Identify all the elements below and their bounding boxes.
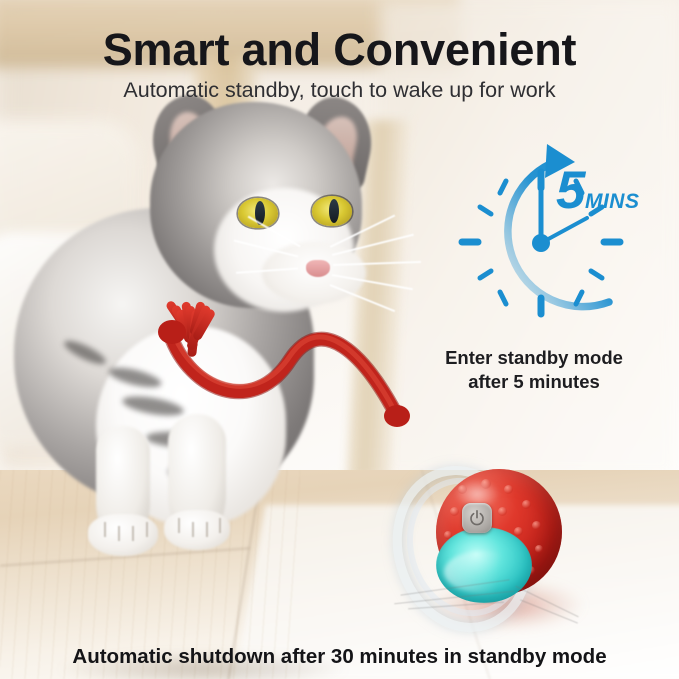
cat-paw-toe-line — [192, 522, 194, 537]
clock-caption-line-1: Enter standby mode — [392, 346, 676, 370]
ball-texture-bump — [498, 507, 507, 516]
ball-texture-bump — [450, 507, 459, 516]
cat-paw-toe-line — [132, 526, 134, 541]
clock-caption: Enter standby mode after 5 minutes — [392, 346, 676, 394]
standby-duration-value: 5 — [556, 161, 585, 220]
ball-texture-bump — [532, 521, 541, 530]
power-icon[interactable] — [462, 503, 492, 533]
standby-duration-unit: MINS — [585, 190, 640, 213]
cat-paw-toe-line — [178, 518, 180, 533]
cat-paw-toe-line — [104, 522, 106, 537]
product-feature-image: 5MINS Smart and Convenient Automatic sta… — [0, 0, 679, 679]
cat-ball-toy — [392, 455, 582, 640]
cat-nose — [306, 260, 330, 277]
ball-texture-bump — [504, 485, 513, 494]
ball-texture-bump — [514, 527, 523, 536]
cat-pupil-right — [329, 199, 339, 223]
page-subtitle: Automatic standby, touch to wake up for … — [0, 78, 679, 103]
ball-texture-bump — [522, 500, 531, 509]
ball-texture-bump — [535, 545, 543, 553]
page-title: Smart and Convenient — [0, 24, 679, 76]
cat-paw-toe-line — [206, 522, 208, 537]
cat-paw-toe-line — [219, 518, 221, 533]
cat-paw-toe-line — [146, 522, 148, 537]
footer-caption: Automatic shutdown after 30 minutes in s… — [0, 645, 679, 669]
standby-duration: 5MINS — [556, 164, 639, 217]
clock-caption-line-2: after 5 minutes — [392, 370, 676, 394]
power-glyph — [468, 509, 486, 527]
cat-paw-toe-line — [118, 526, 120, 541]
